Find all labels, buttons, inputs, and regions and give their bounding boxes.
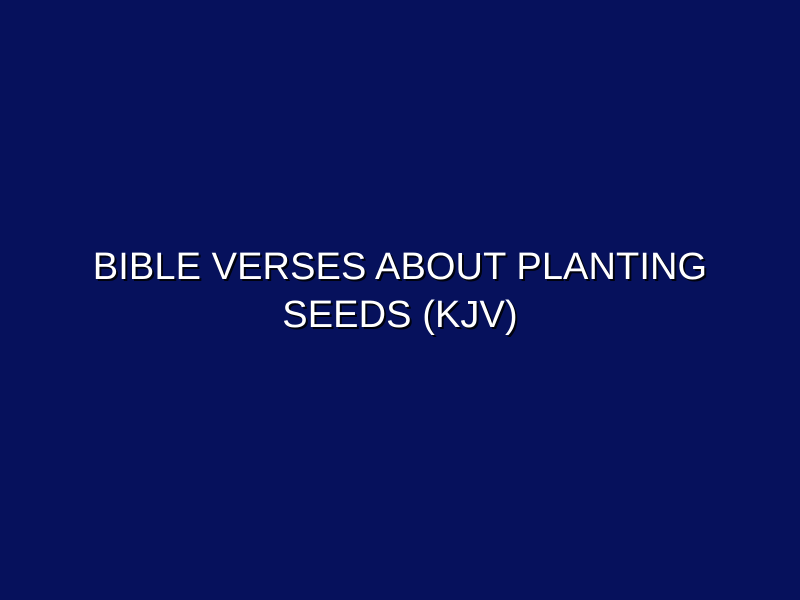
page-title: Bible Verses About Planting Seeds (KJV) [50, 243, 750, 339]
title-slide: Bible Verses About Planting Seeds (KJV) [0, 0, 800, 600]
title-block: Bible Verses About Planting Seeds (KJV) [0, 243, 800, 339]
